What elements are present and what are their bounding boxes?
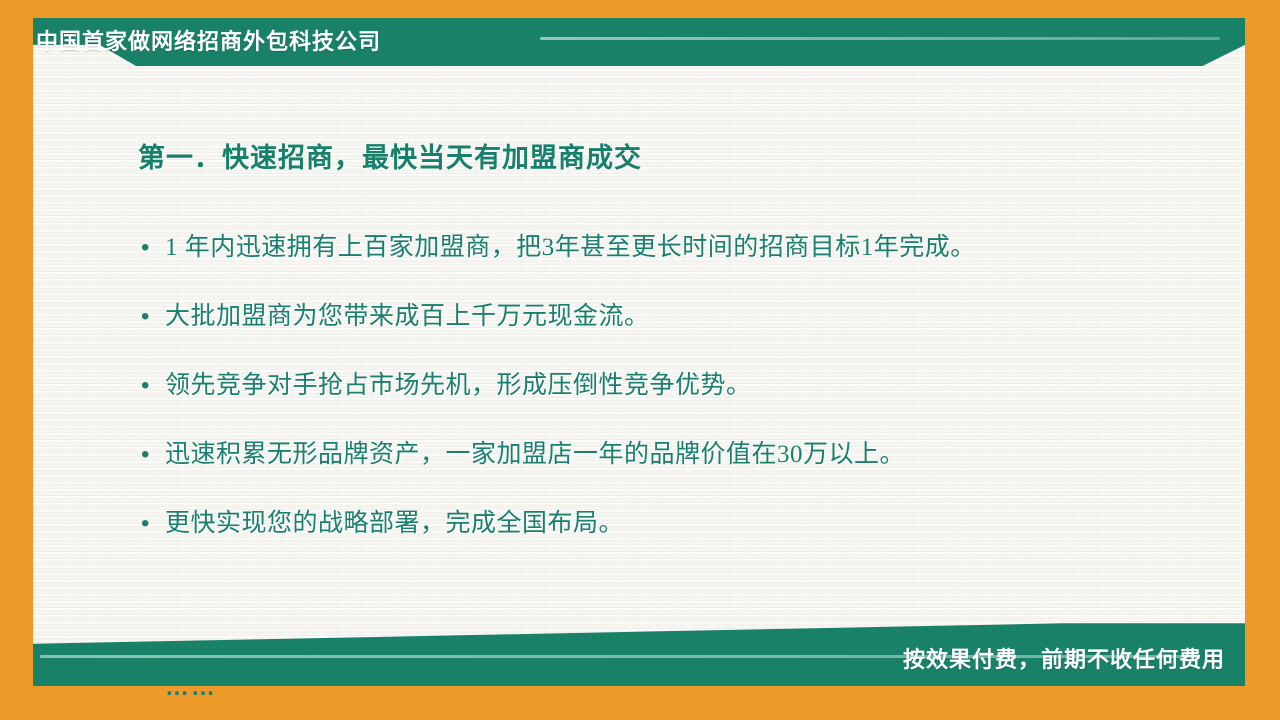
footer-tagline: 按效果付费，前期不收任何费用 — [903, 646, 1225, 674]
list-item-label: 迅速积累无形品牌资产，一家加盟店一年的品牌价值在30万以上。 — [165, 439, 905, 471]
slide-content: 第一．快速招商，最快当天有加盟商成交 • 1 年内迅速拥有上百家加盟商，把3年甚… — [33, 66, 1245, 622]
list-item: • 更快实现您的战略部署，完成全国布局。 — [141, 508, 1231, 540]
list-item-label: 领先竞争对手抢占市场先机，形成压倒性竞争优势。 — [165, 370, 752, 402]
bullet-dot-icon: • — [141, 232, 165, 264]
list-item-label: 1 年内迅速拥有上百家加盟商，把3年甚至更长时间的招商目标1年完成。 — [165, 232, 976, 264]
bullet-dot-icon: • — [141, 439, 165, 471]
header-title: 中国首家做网络招商外包科技公司 — [36, 29, 381, 55]
list-item: • 迅速积累无形品牌资产，一家加盟店一年的品牌价值在30万以上。 — [141, 439, 1231, 471]
page-title: 第一．快速招商，最快当天有加盟商成交 — [138, 136, 642, 175]
bullet-dot-icon: • — [141, 370, 165, 402]
bullet-dot-icon: • — [141, 301, 165, 333]
list-item: • 领先竞争对手抢占市场先机，形成压倒性竞争优势。 — [141, 370, 1231, 402]
list-item: • 1 年内迅速拥有上百家加盟商，把3年甚至更长时间的招商目标1年完成。 — [141, 232, 1231, 264]
slide-canvas: 中国首家做网络招商外包科技公司 第一．快速招商，最快当天有加盟商成交 • 1 年… — [0, 0, 1280, 720]
bullet-dot-icon: • — [141, 508, 165, 540]
header-divider-line-icon — [540, 37, 1220, 40]
bullet-list: • 1 年内迅速拥有上百家加盟商，把3年甚至更长时间的招商目标1年完成。 • 大… — [141, 232, 1231, 577]
list-item-label: 更快实现您的战略部署，完成全国布局。 — [165, 508, 624, 540]
list-item: • 大批加盟商为您带来成百上千万元现金流。 — [141, 301, 1231, 333]
list-item-label: 大批加盟商为您带来成百上千万元现金流。 — [165, 301, 650, 333]
